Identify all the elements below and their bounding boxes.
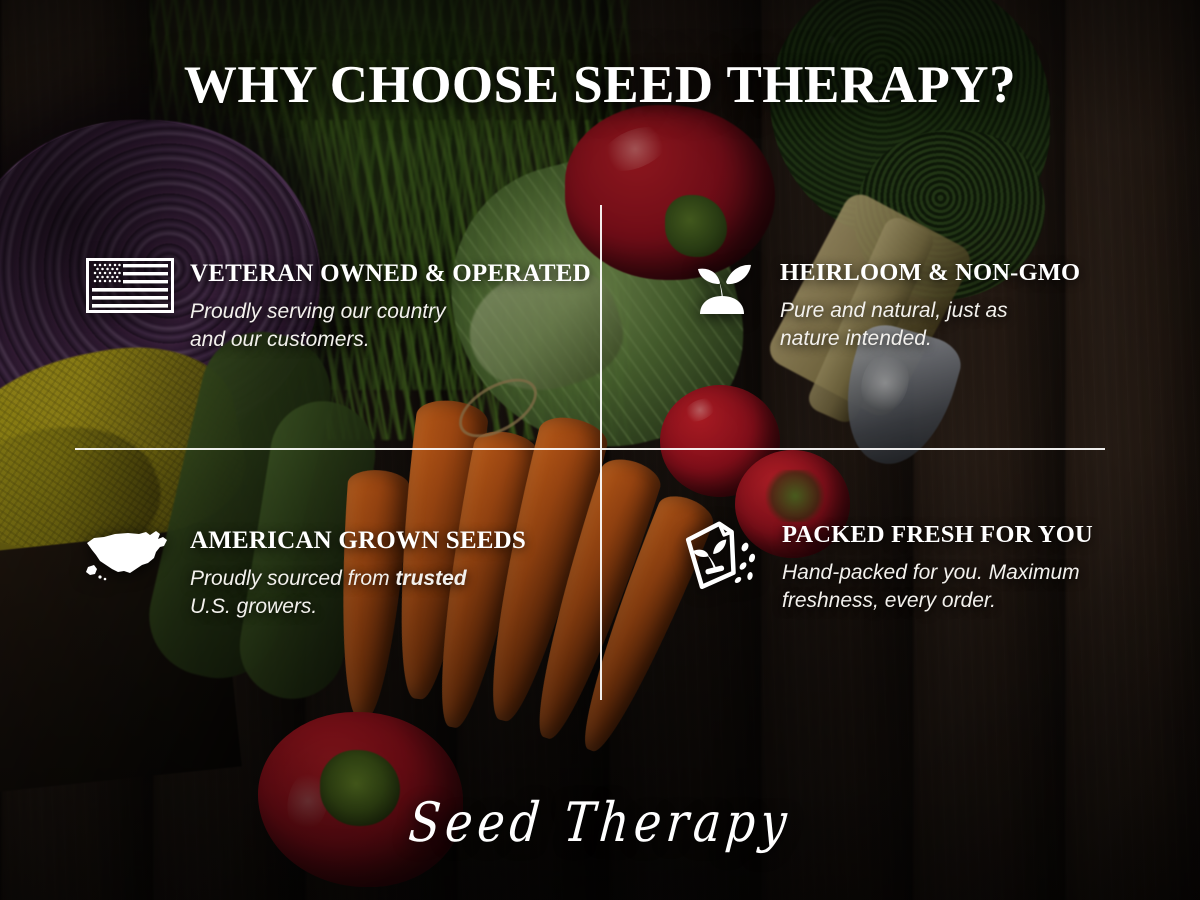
feature-description-line-2: and our customers. [190, 328, 370, 351]
feature-description: Proudly sourced from trusted U.S. grower… [190, 565, 584, 622]
feature-heirloom-body: HEIRLOOM & NON-GMO Pure and natural, jus… [780, 258, 1150, 354]
feature-american-grown-body: AMERICAN GROWN SEEDS Proudly sourced fro… [190, 525, 584, 621]
usa-map-icon [84, 525, 176, 583]
feature-description-line-1: Proudly sourced from [190, 567, 395, 590]
brand-logo: Seed Therapy [0, 795, 1200, 849]
page-title: WHY CHOOSE SEED THERAPY? [0, 55, 1200, 115]
content-layer: WHY CHOOSE SEED THERAPY? [0, 0, 1200, 900]
feature-description-line-2: freshness, every order. [782, 589, 996, 612]
feature-heading: HEIRLOOM & NON-GMO [780, 260, 1150, 287]
feature-heading: PACKED FRESH FOR YOU [782, 522, 1156, 549]
feature-description: Pure and natural, just as nature intende… [780, 297, 1150, 354]
vertical-divider [600, 205, 602, 700]
horizontal-divider [75, 448, 1105, 450]
feature-heirloom-non-gmo: HEIRLOOM & NON-GMO Pure and natural, jus… [680, 258, 1150, 354]
feature-description: Hand-packed for you. Maximum freshness, … [782, 559, 1156, 616]
feature-veteran-owned-body: VETERAN OWNED & OPERATED Proudly serving… [190, 258, 591, 354]
feature-heading: AMERICAN GROWN SEEDS [190, 527, 584, 555]
brand-name: Seed Therapy [406, 790, 794, 854]
feature-description-emphasis: trusted [395, 567, 466, 590]
feature-description-line-1: Proudly serving our country [190, 300, 446, 323]
feature-heading: VETERAN OWNED & OPERATED [190, 260, 591, 288]
seed-packet-icon [676, 520, 768, 592]
infographic-canvas: WHY CHOOSE SEED THERAPY? [0, 0, 1200, 900]
feature-american-grown-seeds: AMERICAN GROWN SEEDS Proudly sourced fro… [84, 525, 584, 621]
feature-description-line-1: Pure and natural, just as [780, 299, 1008, 322]
us-flag-icon [84, 258, 176, 313]
feature-description-line-2: nature intended. [780, 327, 932, 350]
feature-packed-fresh: PACKED FRESH FOR YOU Hand-packed for you… [676, 520, 1156, 616]
feature-description-line-2: U.S. growers. [190, 595, 317, 618]
feature-description-line-1: Hand-packed for you. Maximum [782, 561, 1080, 584]
sprout-seedling-icon [680, 258, 766, 320]
feature-description: Proudly serving our country and our cust… [190, 298, 591, 355]
feature-veteran-owned: VETERAN OWNED & OPERATED Proudly serving… [84, 258, 584, 354]
feature-packed-fresh-body: PACKED FRESH FOR YOU Hand-packed for you… [782, 520, 1156, 616]
